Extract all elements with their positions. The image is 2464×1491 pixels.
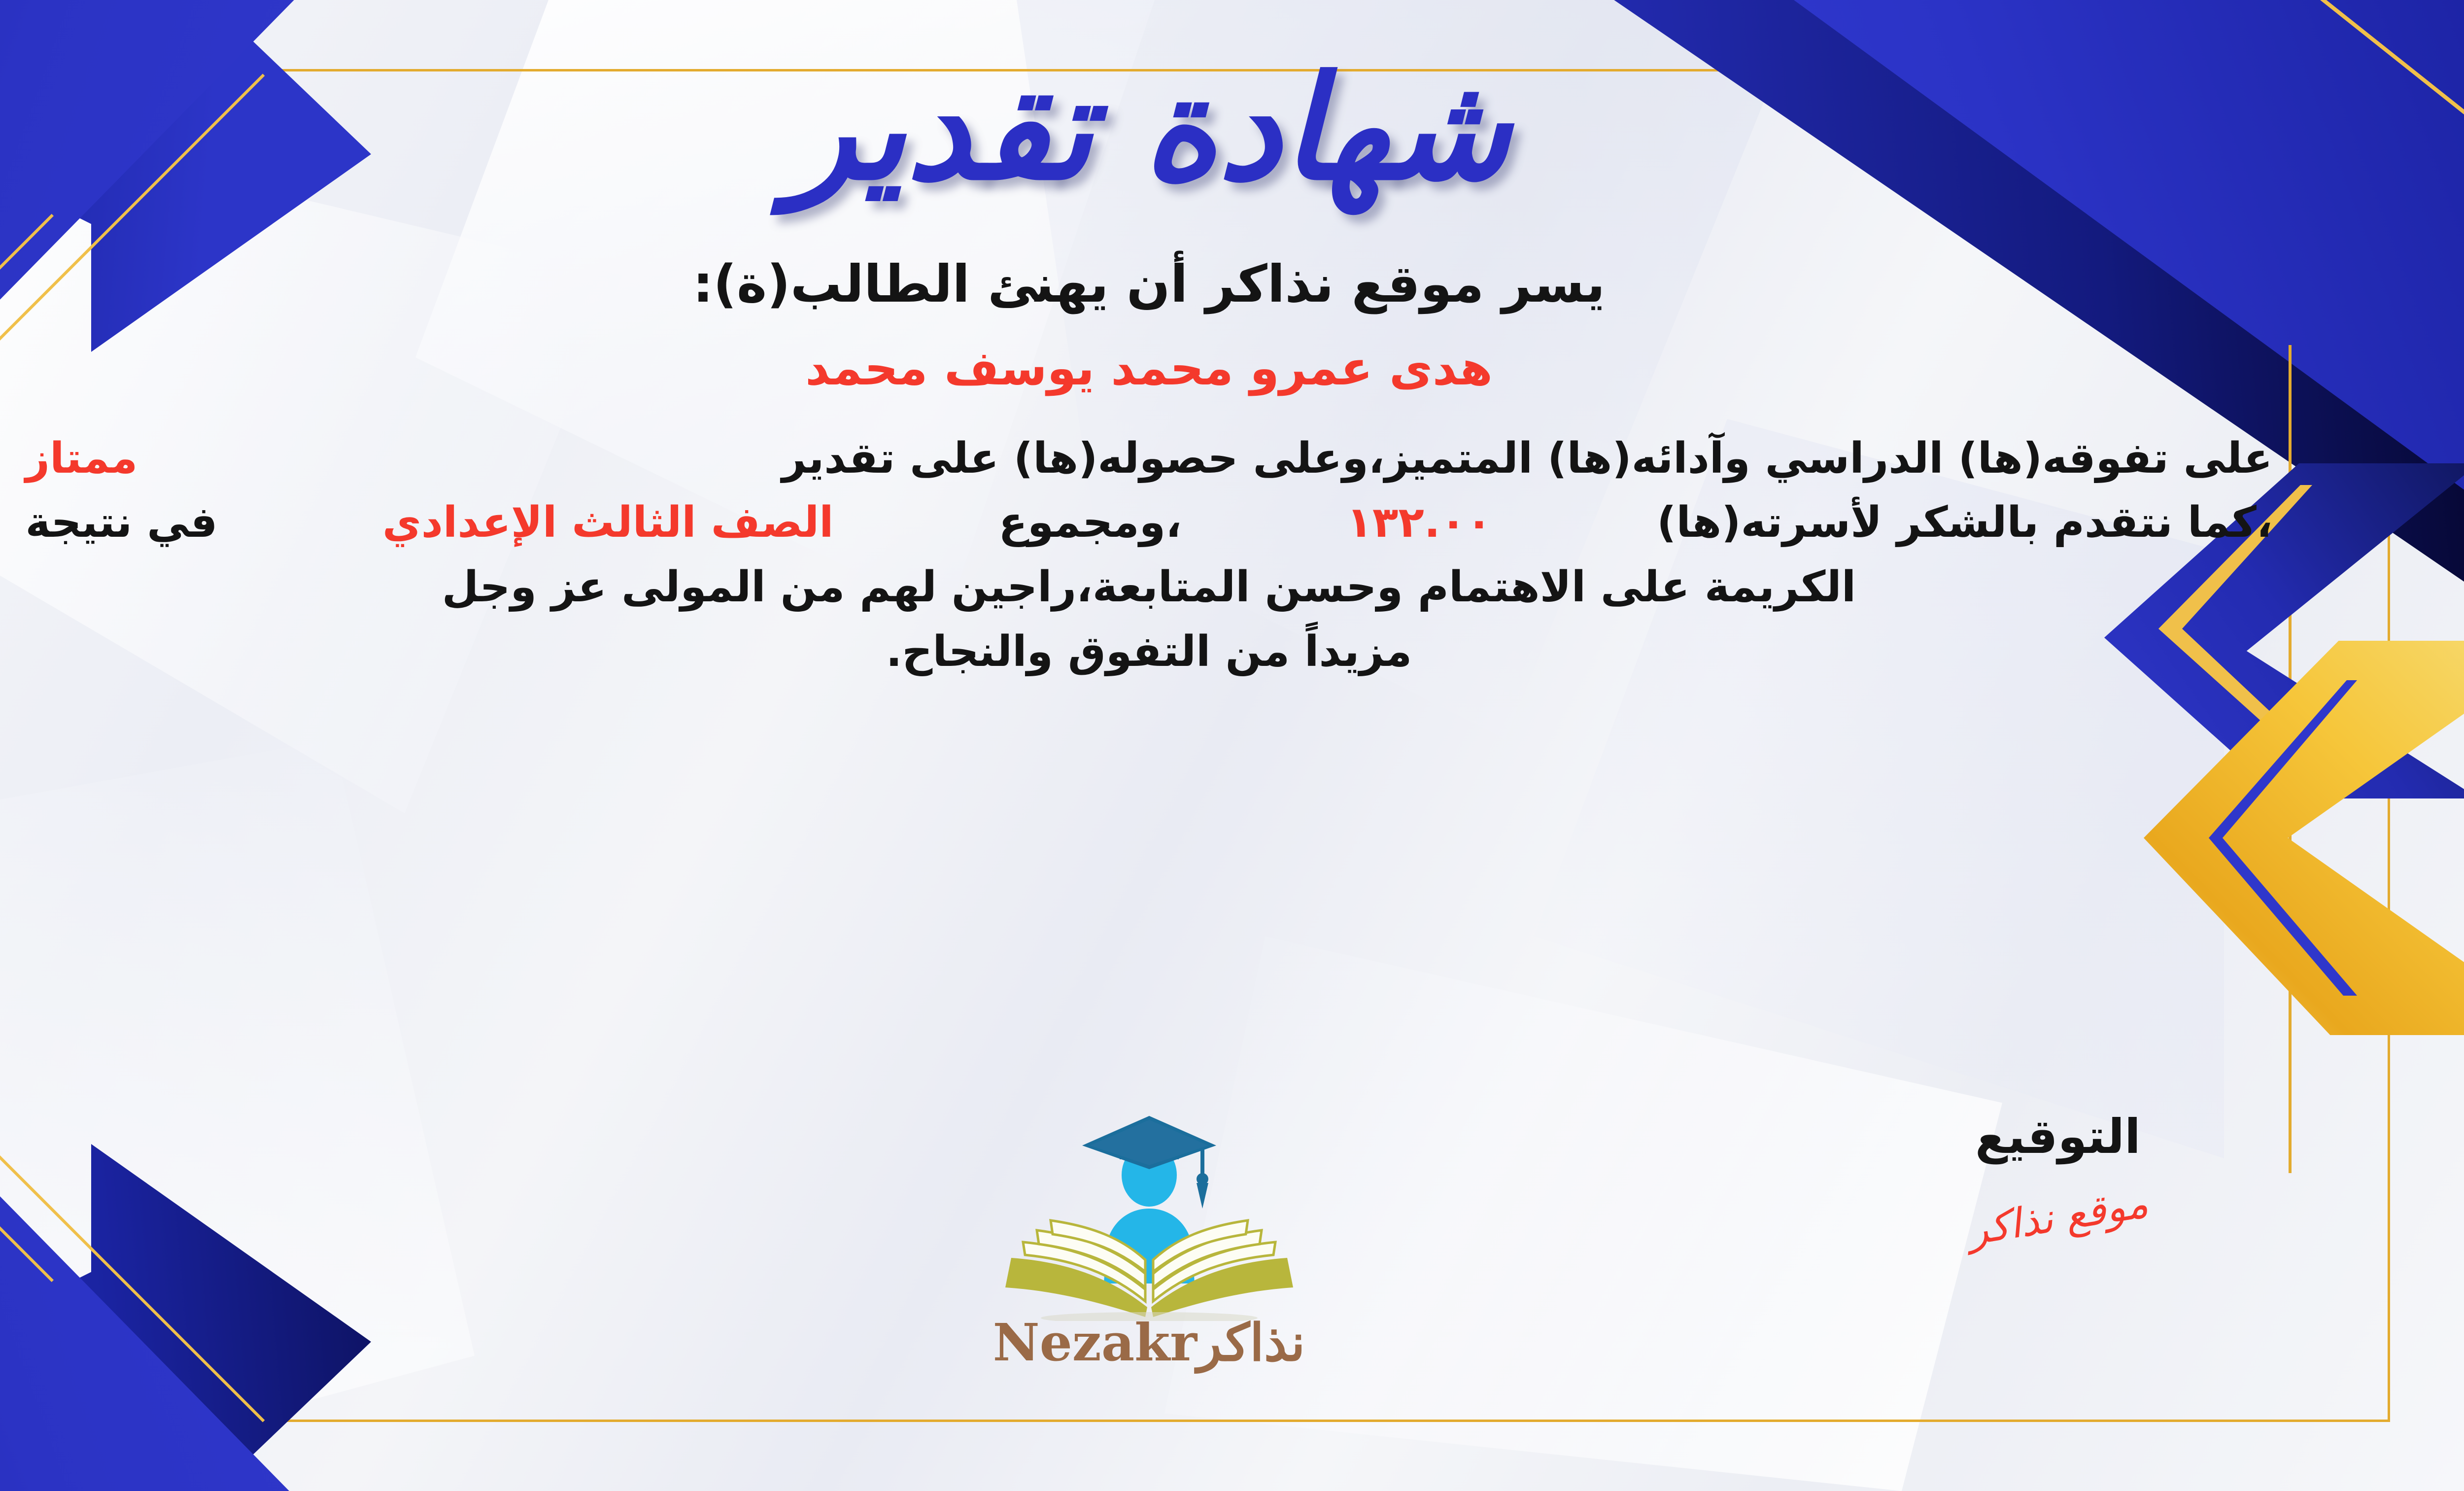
body-line-1: على تفوقه(ها) الدراسي وآدائه(ها) المتميز… <box>26 426 2273 491</box>
body-line-1-text: على تفوقه(ها) الدراسي وآدائه(ها) المتميز… <box>782 426 2273 491</box>
certificate-title: شهادة تقدير <box>787 54 1510 205</box>
body-line-4: مزيداً من التفوق والنجاح. <box>26 620 2273 684</box>
student-name: هدى عمرو محمد يوسف محمد <box>805 341 1493 396</box>
logo-name-arabic: نذاكر <box>1197 1312 1305 1373</box>
body-line-2: ،كما نتقدم بالشكر لأسرته(ها) ١٣٢.٠٠ ،ومج… <box>26 490 2273 555</box>
signature-mark: موقع نذاكر <box>1965 1180 2151 1254</box>
signature-label: التوقيع <box>1967 1109 2149 1164</box>
certificate-footer: التوقيع موقع نذاكر <box>0 1109 2464 1454</box>
certificate-content: شهادة تقدير يسر موقع نذاكر أن يهنئ الطال… <box>0 0 2464 1491</box>
grade-value: ممتاز <box>26 426 138 491</box>
total-score-value: ١٣٢.٠٠ <box>1346 490 1492 555</box>
grade-stage-value: الصف الثالث الإعدادي <box>382 490 834 555</box>
certificate-canvas: شهادة تقدير يسر موقع نذاكر أن يهنئ الطال… <box>0 0 2464 1491</box>
body-line-3: الكريمة على الاهتمام وحسن المتابعة،راجين… <box>26 555 2273 620</box>
body-line-2-prefix: في نتيجة <box>26 490 218 555</box>
logo-name-latin: Nezakr <box>993 1312 1198 1373</box>
site-logo: نذاكرNezakr <box>972 1114 1327 1373</box>
body-line-2-middle: ،ومجموع <box>998 490 1182 555</box>
certificate-body: على تفوقه(ها) الدراسي وآدائه(ها) المتميز… <box>26 426 2273 684</box>
logo-wordmark: نذاكرNezakr <box>972 1312 1327 1373</box>
signature-block: التوقيع موقع نذاكر <box>1967 1109 2149 1241</box>
graduate-open-book-icon <box>972 1114 1327 1321</box>
body-line-2-suffix: ،كما نتقدم بالشكر لأسرته(ها) <box>1657 490 2272 555</box>
congratulation-intro-line: يسر موقع نذاكر أن يهنئ الطالب(ة): <box>693 254 1605 314</box>
